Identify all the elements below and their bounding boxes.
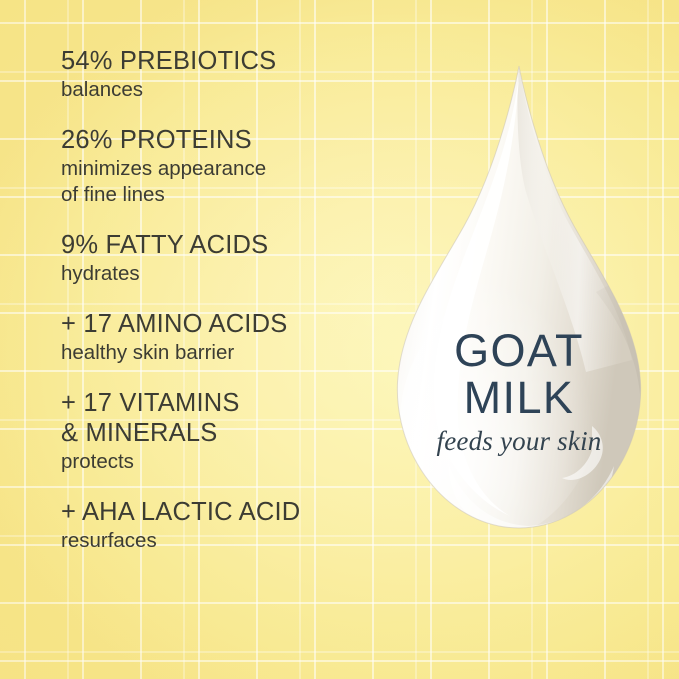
ingredient-heading: + AHA LACTIC ACID bbox=[61, 497, 391, 527]
ingredient-subtext: minimizes appearance of fine lines bbox=[61, 156, 391, 208]
ingredient-heading: 54% PREBIOTICS bbox=[61, 46, 391, 76]
ingredient-item-prebiotics: 54% PREBIOTICS balances bbox=[61, 46, 391, 103]
ingredient-item-fatty-acids: 9% FATTY ACIDS hydrates bbox=[61, 230, 391, 287]
ingredient-heading: + 17 AMINO ACIDS bbox=[61, 309, 391, 339]
ingredient-subtext: hydrates bbox=[61, 261, 391, 287]
ingredient-heading: 26% PROTEINS bbox=[61, 125, 391, 155]
ingredient-subtext: protects bbox=[61, 449, 391, 475]
milk-droplet-graphic: GOAT MILK feeds your skin bbox=[386, 62, 652, 552]
ingredient-subtext: resurfaces bbox=[61, 528, 391, 554]
ingredient-heading: 9% FATTY ACIDS bbox=[61, 230, 391, 260]
ingredient-subtext: balances bbox=[61, 77, 391, 103]
ingredient-item-aha-lactic-acid: + AHA LACTIC ACID resurfaces bbox=[61, 497, 391, 554]
ingredient-heading: + 17 VITAMINS & MINERALS bbox=[61, 388, 391, 448]
ingredient-item-proteins: 26% PROTEINS minimizes appearance of fin… bbox=[61, 125, 391, 208]
ingredient-subtext: healthy skin barrier bbox=[61, 340, 391, 366]
milk-droplet-icon bbox=[386, 62, 652, 552]
ingredient-item-amino-acids: + 17 AMINO ACIDS healthy skin barrier bbox=[61, 309, 391, 366]
ingredient-list: 54% PREBIOTICS balances 26% PROTEINS min… bbox=[61, 46, 391, 554]
product-infographic: 54% PREBIOTICS balances 26% PROTEINS min… bbox=[0, 0, 679, 679]
ingredient-item-vitamins-minerals: + 17 VITAMINS & MINERALS protects bbox=[61, 388, 391, 475]
